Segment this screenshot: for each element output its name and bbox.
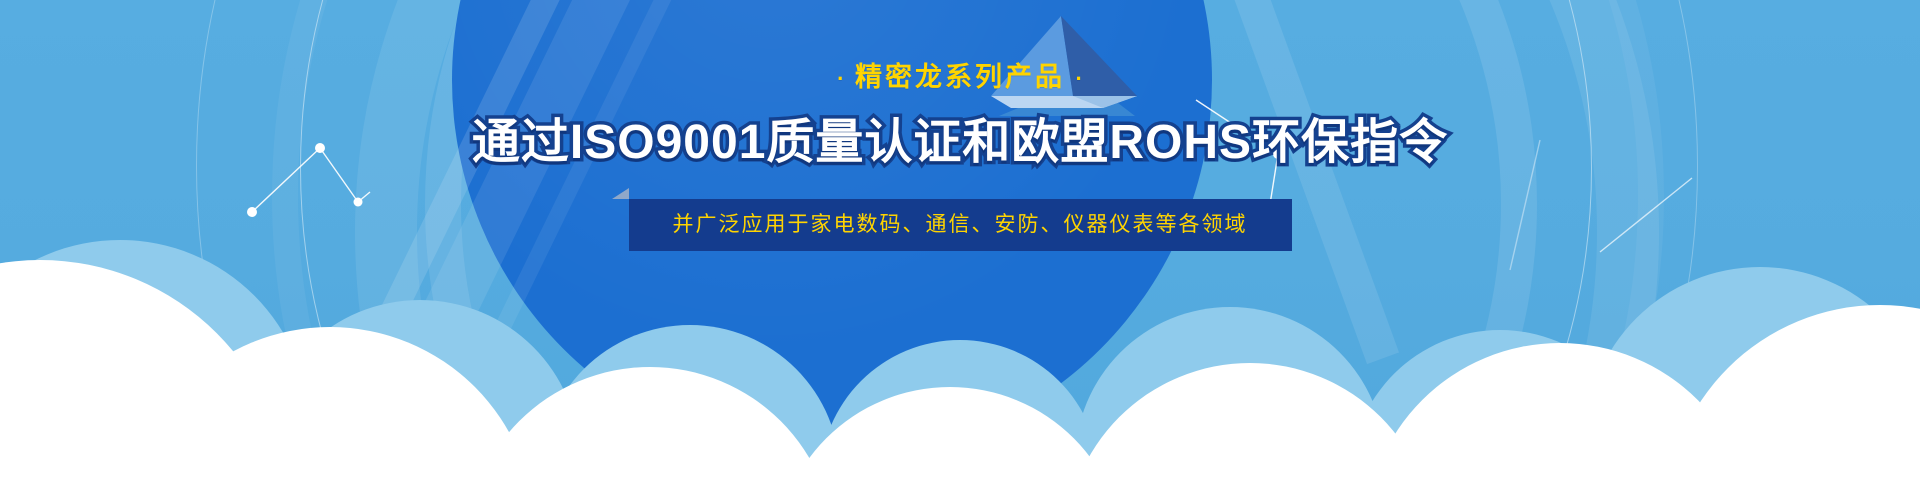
promo-banner: · 精密龙系列产品 · 通过ISO9001质量认证和欧盟ROHS环保指令 并广泛… (0, 0, 1920, 480)
bullet-right-icon: · (1076, 66, 1083, 91)
cloud-layer (0, 180, 1920, 480)
bullet-left-icon: · (837, 66, 844, 91)
eyebrow-text: 精密龙系列产品 (855, 62, 1065, 92)
eyebrow-line: · 精密龙系列产品 · (0, 64, 1920, 91)
headline-title: 通过ISO9001质量认证和欧盟ROHS环保指令 (0, 117, 1920, 169)
